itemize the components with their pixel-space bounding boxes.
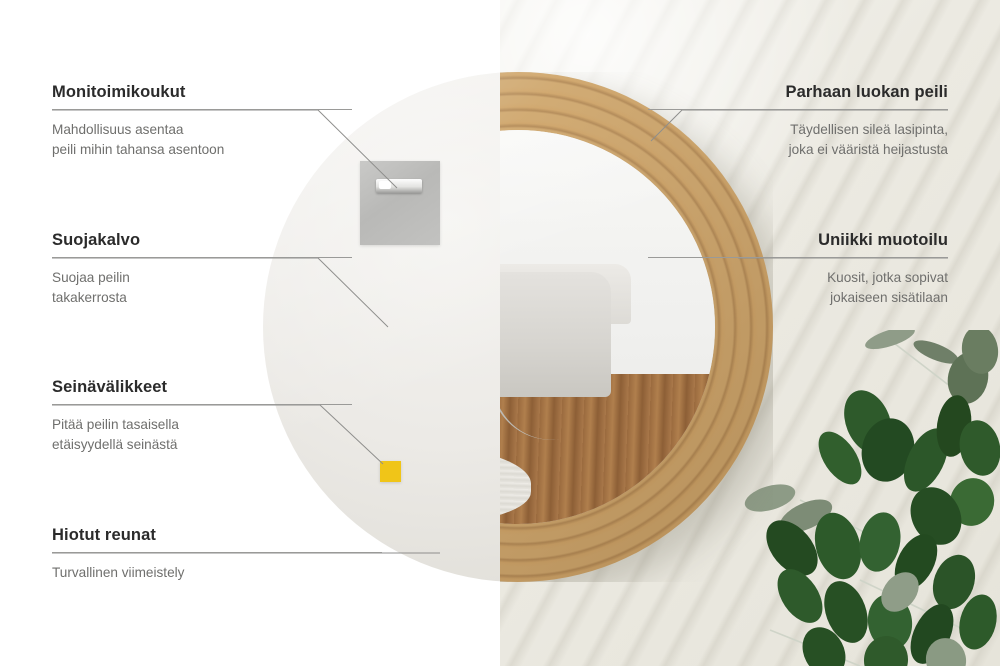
callout-description: Kuosit, jotka sopivat jokaiseen sisätila…	[648, 268, 948, 307]
callout-uniikki-muotoilu: Uniikki muotoilu Kuosit, jotka sopivat j…	[648, 231, 948, 307]
callout-title: Monitoimikoukut	[52, 83, 352, 102]
callout-description: Pitää peilin tasaisella etäisyydellä sei…	[52, 415, 352, 454]
callout-monitoimikoukut: Monitoimikoukut Mahdollisuus asentaa pei…	[52, 83, 352, 159]
callout-title: Parhaan luokan peili	[648, 83, 948, 102]
callout-divider	[648, 109, 948, 110]
callout-parhaan-luokan-peili: Parhaan luokan peili Täydellisen sileä l…	[648, 83, 948, 159]
callout-description: Turvallinen viimeistely	[52, 563, 382, 583]
foliage-decoration	[740, 330, 1000, 666]
wall-spacer-detail-image	[380, 461, 401, 482]
callout-divider	[52, 552, 382, 553]
mirror-glass	[500, 130, 715, 524]
callout-seinavalikkeet: Seinävälikkeet Pitää peilin tasaisella e…	[52, 378, 352, 454]
callout-description: Mahdollisuus asentaa peili mihin tahansa…	[52, 120, 352, 159]
callout-hiotut-reunat: Hiotut reunat Turvallinen viimeistely	[52, 526, 382, 583]
hook-icon	[376, 179, 422, 193]
callout-title: Seinävälikkeet	[52, 378, 352, 397]
callout-divider	[52, 109, 352, 110]
callout-divider	[52, 404, 352, 405]
callout-title: Uniikki muotoilu	[648, 231, 948, 250]
callout-description: Täydellisen sileä lasipinta, joka ei vää…	[648, 120, 948, 159]
callout-suojakalvo: Suojakalvo Suojaa peilin takakerrosta	[52, 231, 352, 307]
callout-divider	[648, 257, 948, 258]
callout-description: Suojaa peilin takakerrosta	[52, 268, 352, 307]
callout-divider	[52, 257, 352, 258]
callout-title: Suojakalvo	[52, 231, 352, 250]
infographic-canvas: Monitoimikoukut Mahdollisuus asentaa pei…	[0, 0, 1000, 666]
mirror-hook-detail-image	[360, 161, 440, 245]
callout-title: Hiotut reunat	[52, 526, 382, 545]
